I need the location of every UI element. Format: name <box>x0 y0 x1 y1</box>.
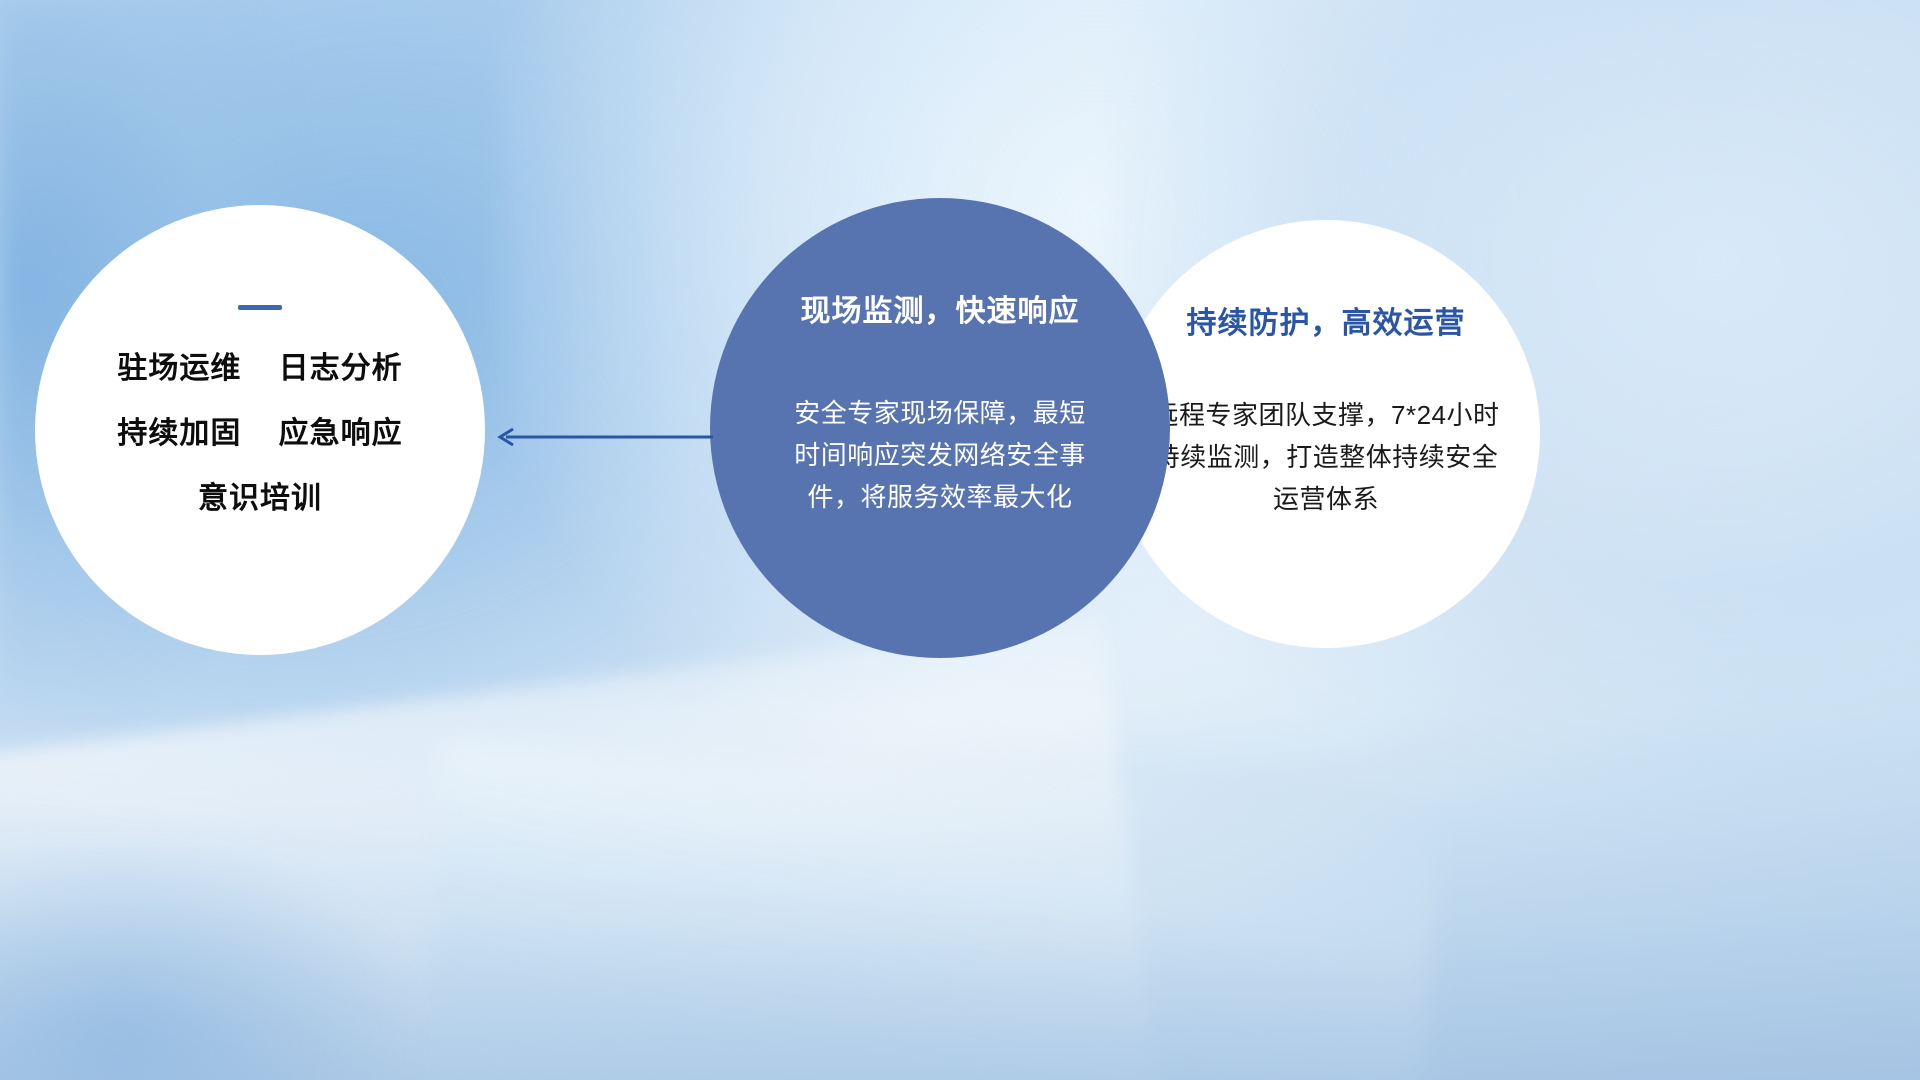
flow-arrow-left-icon <box>492 424 714 450</box>
capability-line-2: 持续加固 应急响应 <box>117 419 402 449</box>
onsite-monitoring-title: 现场监测，快速响应 <box>801 286 1080 330</box>
capability-line-1: 驻场运维 日志分析 <box>117 354 402 384</box>
circle-capabilities[interactable]: 驻场运维 日志分析 持续加固 应急响应 意识培训 <box>35 205 485 655</box>
circle-onsite-monitoring[interactable]: 现场监测，快速响应 安全专家现场保障，最短时间响应突发网络安全事件，将服务效率最… <box>710 198 1170 658</box>
continuous-protection-body: 远程专家团队支撑，7*24小时持续监测，打造整体持续安全运营体系 <box>1150 394 1502 520</box>
diagram-canvas: 驻场运维 日志分析 持续加固 应急响应 意识培训 现场监测，快速响应 安全专家现… <box>0 0 1920 1080</box>
divider-dash-icon <box>238 305 282 310</box>
capability-line-3: 意识培训 <box>198 484 322 514</box>
continuous-protection-title: 持续防护，高效运营 <box>1187 298 1466 342</box>
onsite-monitoring-body: 安全专家现场保障，最短时间响应突发网络安全事件，将服务效率最大化 <box>790 392 1090 518</box>
circle-continuous-protection[interactable]: 持续防护，高效运营 远程专家团队支撑，7*24小时持续监测，打造整体持续安全运营… <box>1112 220 1540 648</box>
